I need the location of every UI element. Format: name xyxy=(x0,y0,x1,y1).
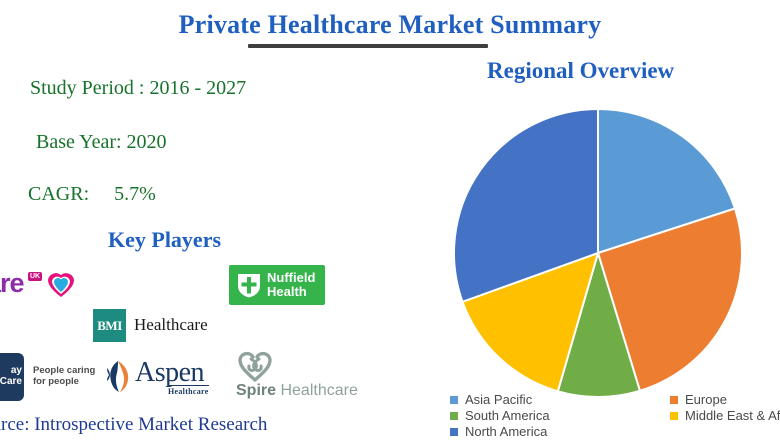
spire-word-bold: Spire xyxy=(236,382,276,399)
page-title: Private Healthcare Market Summary xyxy=(0,10,780,40)
legend-label: North America xyxy=(465,424,547,439)
people-tagline-line-2: for people xyxy=(33,376,79,387)
aspen-sub-wordmark: Healthcare xyxy=(168,385,209,396)
people-caring-mark-text: ay Care xyxy=(0,365,22,387)
people-mark-line-1: ay xyxy=(11,365,22,376)
bmi-mark-text: BMI xyxy=(93,318,126,334)
people-tagline-line-1: People caring xyxy=(33,365,95,376)
cagr-value: 5.7% xyxy=(94,183,156,205)
cagr-row: CAGR: 5.7% xyxy=(28,183,156,206)
study-period-label: Study Period : 2016 - 2027 xyxy=(30,77,246,100)
nuffield-health-wordmark: Nuffield Health xyxy=(267,271,315,298)
bmi-healthcare-wordmark: Healthcare xyxy=(134,315,208,335)
base-year-label: Base Year: 2020 xyxy=(36,131,167,154)
care-uk-badge: UK xyxy=(28,272,42,281)
logo-people-caring-for-people: ay Care People caring for people xyxy=(0,353,98,401)
legend-item-middle-east-africa[interactable]: Middle East & Af xyxy=(670,408,780,423)
pie-chart-legend: Asia Pacific South America North America… xyxy=(448,392,780,440)
pie-chart-svg xyxy=(450,105,746,401)
legend-swatch-icon xyxy=(670,412,678,420)
legend-swatch-icon xyxy=(450,412,458,420)
regional-overview-heading: Regional Overview xyxy=(487,58,674,84)
logo-aspen-healthcare: Aspen Healthcare xyxy=(105,355,220,400)
care-uk-wordmark: care xyxy=(0,268,24,299)
cagr-label: CAGR: xyxy=(28,183,89,205)
source-attribution: ource: Introspective Market Research xyxy=(0,414,267,436)
legend-item-south-america[interactable]: South America xyxy=(450,408,550,423)
legend-swatch-icon xyxy=(670,396,678,404)
title-underline-rule xyxy=(248,44,488,48)
legend-label: Europe xyxy=(685,392,727,407)
legend-swatch-icon xyxy=(450,396,458,404)
legend-swatch-icon xyxy=(450,428,458,436)
spire-word-light: Healthcare xyxy=(276,382,358,399)
people-mark-line-2: Care xyxy=(0,376,22,387)
legend-label: Asia Pacific xyxy=(465,392,532,407)
logo-nuffield-health: Nuffield Health xyxy=(229,265,325,305)
market-summary-infographic: Private Healthcare Market Summary Study … xyxy=(0,0,780,440)
aspen-leaf-icon xyxy=(105,359,137,393)
logo-care-uk: care UK xyxy=(0,266,90,306)
people-caring-mark: ay Care xyxy=(0,353,24,401)
spire-heart-knot-icon xyxy=(236,350,274,382)
key-players-heading: Key Players xyxy=(108,227,221,253)
people-caring-tagline: People caring for people xyxy=(33,365,95,387)
nuffield-line-2: Health xyxy=(267,284,307,299)
legend-label: South America xyxy=(465,408,550,423)
legend-item-europe[interactable]: Europe xyxy=(670,392,727,407)
logo-spire-healthcare: Spire Healthcare xyxy=(236,350,358,402)
logo-bmi-healthcare: BMI Healthcare xyxy=(93,309,208,342)
legend-label: Middle East & Af xyxy=(685,408,780,423)
heart-icon xyxy=(46,270,76,300)
legend-item-asia-pacific[interactable]: Asia Pacific xyxy=(450,392,532,407)
shield-cross-icon xyxy=(237,273,261,298)
legend-item-north-america[interactable]: North America xyxy=(450,424,547,439)
spire-healthcare-wordmark: Spire Healthcare xyxy=(236,382,358,400)
bmi-mark: BMI xyxy=(93,309,126,342)
pie-chart xyxy=(450,105,746,401)
